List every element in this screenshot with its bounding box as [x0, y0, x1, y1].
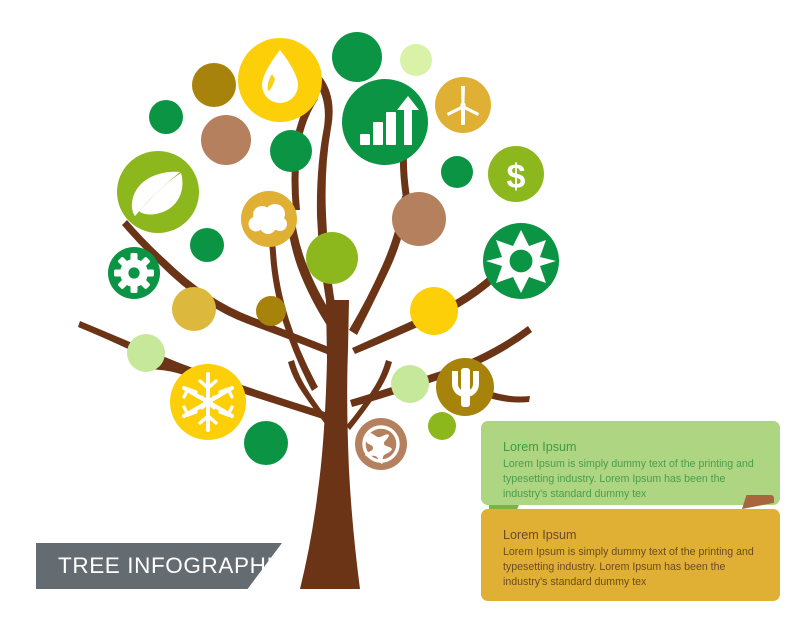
dollar-sign-icon: $ — [507, 158, 526, 196]
leaf-circle — [392, 192, 446, 246]
leaf-circle — [391, 365, 429, 403]
leaf-circle — [172, 287, 216, 331]
callout-green-body: Lorem Ipsum is simply dummy text of the … — [503, 457, 758, 502]
icon-circle-cloud[interactable] — [241, 191, 297, 247]
gear-icon-hole — [128, 267, 139, 278]
leaf-circle — [400, 44, 432, 76]
icon-circle-gear[interactable] — [108, 247, 160, 299]
leaf-circle — [149, 100, 183, 134]
icon-circle-leaf[interactable] — [117, 151, 199, 233]
icon-circle-snowflake[interactable] — [170, 364, 246, 440]
icon-circle-globe[interactable] — [355, 418, 407, 470]
leaf-circle — [270, 130, 312, 172]
leaf-circle — [127, 334, 165, 372]
infographic-canvas: $ — [0, 0, 800, 623]
leaf-circle — [441, 156, 473, 188]
leaf-circle — [192, 63, 236, 107]
icon-circle-bar-chart[interactable] — [342, 79, 428, 165]
leaf-circle — [428, 412, 456, 440]
leaf-circle — [201, 115, 251, 165]
callout-green-title: Lorem Ipsum — [503, 439, 758, 456]
callout-gold-title: Lorem Ipsum — [503, 527, 758, 544]
icon-circle-cactus[interactable] — [436, 358, 494, 416]
icon-circle-sun[interactable] — [483, 223, 559, 299]
leaf-circle — [190, 228, 224, 262]
leaf-circle — [410, 287, 458, 335]
icon-circle-dollar[interactable]: $ — [488, 146, 544, 202]
leaf-circle — [256, 296, 286, 326]
callout-card-green[interactable]: Lorem Ipsum Lorem Ipsum is simply dummy … — [481, 421, 780, 505]
leaf-circle — [306, 232, 358, 284]
callout-gold-body: Lorem Ipsum is simply dummy text of the … — [503, 545, 758, 590]
page-title: TREE INFOGRAPHIC — [58, 543, 290, 589]
icon-circle-water-drop[interactable] — [238, 38, 322, 122]
leaf-circle — [332, 32, 382, 82]
icon-circle-wind-turbine[interactable] — [435, 77, 491, 133]
leaf-circle — [244, 421, 288, 465]
callout-card-gold[interactable]: Lorem Ipsum Lorem Ipsum is simply dummy … — [481, 509, 780, 601]
title-banner: TREE INFOGRAPHIC — [36, 543, 282, 589]
